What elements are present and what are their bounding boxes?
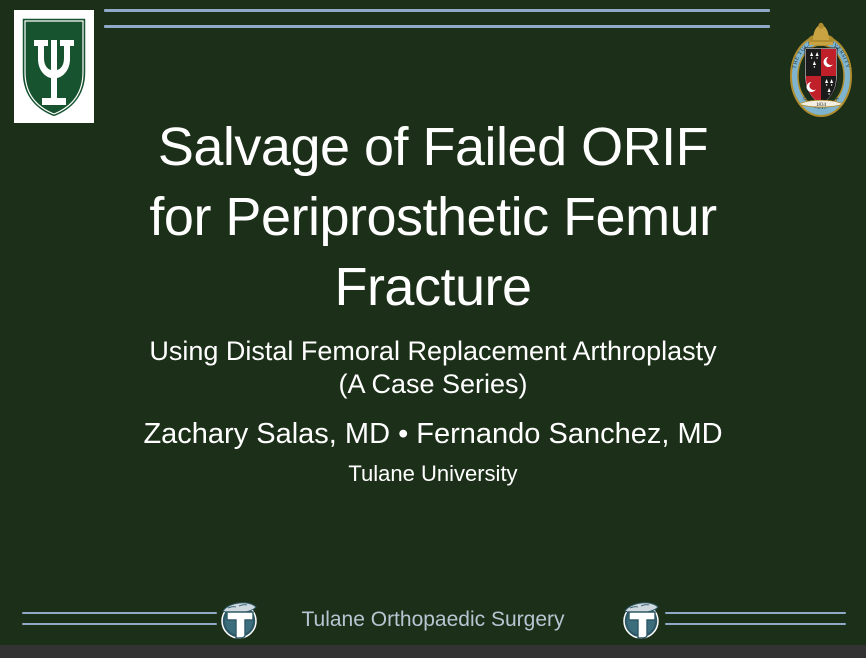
header-rules [104,9,770,31]
subtitle-line-1: Using Distal Femoral Replacement Arthrop… [0,335,866,368]
title-line-1: Salvage of Failed ORIF [0,112,866,182]
presentation-slide: THE TULANE UNIVERSITY OF LOUISIANA [0,0,866,658]
subtitle-line-2: (A Case Series) [0,368,866,401]
footer-rule-right-top [665,612,846,614]
header-rule-top [104,9,770,12]
title-line-2: for Periprosthetic Femur [0,182,866,252]
tulane-athletic-t-logo-right [621,595,661,642]
affiliation-line: Tulane University [0,460,866,488]
footer-rules-right [665,612,846,629]
header-rule-bottom [104,25,770,28]
slide-subtitle: Using Distal Femoral Replacement Arthrop… [0,335,866,488]
svg-text:1834: 1834 [816,103,827,108]
slide-title: Salvage of Failed ORIF for Periprostheti… [0,112,866,322]
title-line-3: Fracture [0,252,866,322]
footer-rule-right-bottom [665,623,846,625]
tulane-shield-logo [14,10,94,123]
bottom-strip [0,645,866,658]
slide-footer: Tulane Orthopaedic Surgery [0,595,866,645]
authors-line: Zachary Salas, MD • Fernando Sanchez, MD [0,416,866,452]
